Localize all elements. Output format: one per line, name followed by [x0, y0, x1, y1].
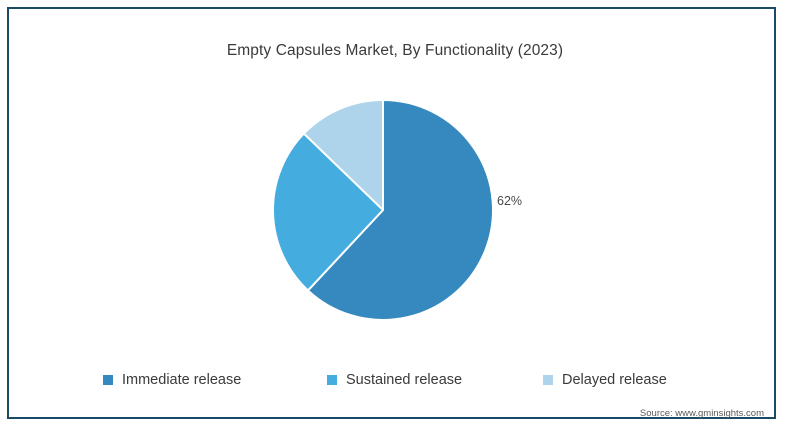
pie-chart — [273, 100, 493, 320]
legend-item-label: Delayed release — [562, 372, 667, 388]
chart-canvas: Empty Capsules Market, By Functionality … — [0, 0, 790, 433]
chart-legend: Immediate release Sustained release Dela… — [0, 369, 790, 391]
legend-item-delayed-release[interactable]: Delayed release — [543, 369, 667, 391]
pie-chart-svg — [273, 100, 493, 320]
legend-item-label: Sustained release — [346, 372, 462, 388]
legend-item-label: Immediate release — [122, 372, 241, 388]
legend-swatch-icon — [103, 375, 113, 385]
legend-item-sustained-release[interactable]: Sustained release — [327, 369, 462, 391]
source-attribution: Source: www.gminsights.com — [640, 408, 764, 419]
legend-swatch-icon — [327, 375, 337, 385]
chart-title: Empty Capsules Market, By Functionality … — [0, 42, 790, 60]
legend-swatch-icon — [543, 375, 553, 385]
pie-slice-group — [273, 100, 493, 320]
legend-item-immediate-release[interactable]: Immediate release — [103, 369, 241, 391]
pie-slice-value-label: 62% — [497, 194, 522, 208]
